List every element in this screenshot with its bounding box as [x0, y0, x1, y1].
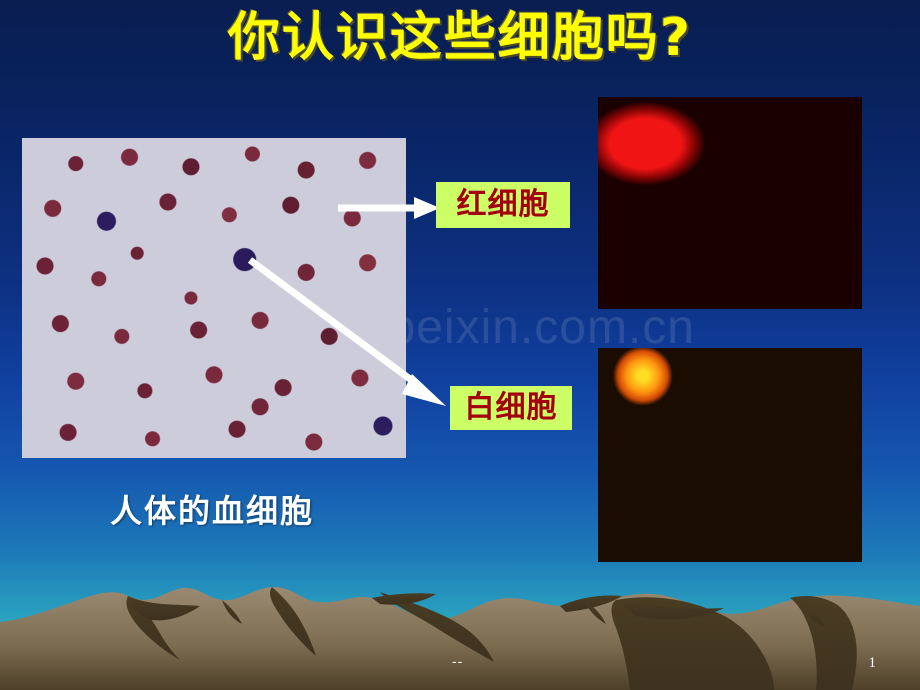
blood-smear-image: [22, 138, 406, 458]
red-blood-cells-sem-image: [598, 97, 862, 309]
slide-canvas: 你认识这些细胞吗? zhuangpeixin.com.cn 红细胞 白细胞 人体…: [0, 0, 920, 690]
blood-smear-caption: 人体的血细胞: [110, 486, 314, 532]
white-blood-cells-sem-image: [598, 348, 862, 562]
mountain-decoration: [0, 560, 920, 690]
page-number: 1: [869, 655, 877, 672]
label-white-blood-cell[interactable]: 白细胞: [450, 386, 572, 430]
footer-dash-mark: --: [452, 653, 463, 669]
label-red-blood-cell[interactable]: 红细胞: [436, 182, 570, 228]
slide-title: 你认识这些细胞吗?: [0, 6, 920, 71]
